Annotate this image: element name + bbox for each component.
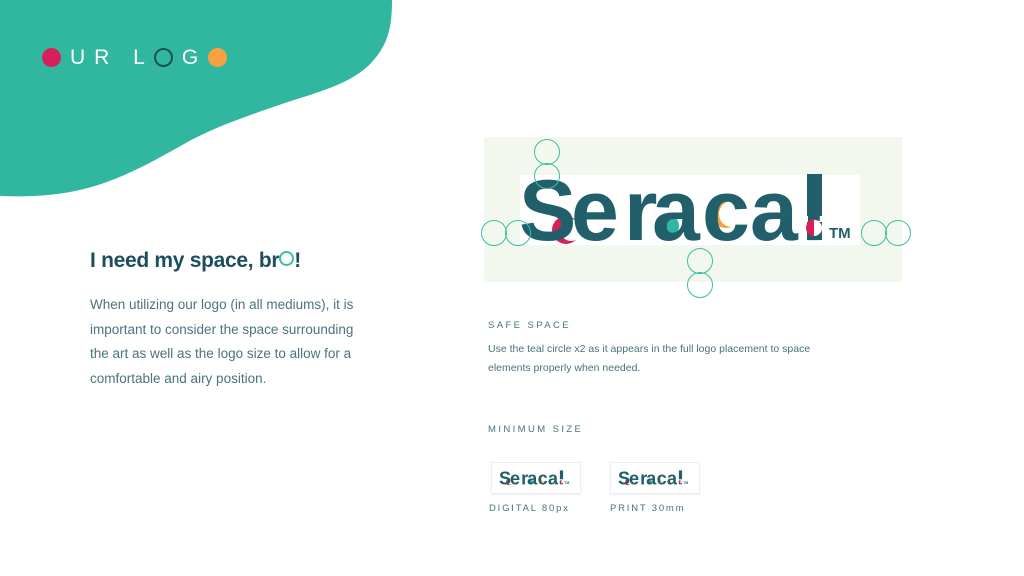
svg-text:a: a: [527, 468, 538, 488]
safe-space-marker-bottom: [687, 248, 713, 296]
header-blob-shape: [0, 0, 420, 210]
page-title-text-2: G: [182, 47, 207, 68]
svg-text:c: c: [657, 468, 667, 488]
svg-text:S: S: [618, 468, 630, 488]
svg-text:a: a: [652, 168, 701, 252]
minimum-size-swatch-digital: S e r a c a TM DIGITAL 80px: [491, 462, 581, 514]
svg-text:c: c: [702, 168, 748, 252]
circle-icon: [505, 220, 531, 246]
slide-canvas: UR L G I need my space, br ! When utiliz…: [0, 0, 1024, 576]
safe-space-marker-left: [481, 220, 529, 246]
circle-icon: [534, 139, 560, 165]
svg-text:c: c: [538, 468, 548, 488]
svg-text:TM: TM: [829, 225, 851, 242]
circle-icon: [861, 220, 887, 246]
dark-ring-icon: [154, 48, 173, 67]
svg-text:S: S: [499, 468, 511, 488]
swatch-caption: DIGITAL 80px: [489, 503, 581, 514]
svg-text:TM: TM: [565, 481, 570, 485]
safe-space-label: SAFE SPACE: [488, 320, 571, 331]
svg-text:a: a: [548, 468, 559, 488]
minimum-size-label: MINIMUM SIZE: [488, 424, 583, 435]
minimum-size-swatch-print: S e r a c a TM PRINT 30mm: [610, 462, 700, 514]
circle-icon: [481, 220, 507, 246]
swatch-logo-box: S e r a c a TM: [491, 462, 581, 494]
svg-text:e: e: [510, 468, 520, 488]
headline-suffix: !: [294, 248, 301, 273]
safe-space-body: Use the teal circle x2 as it appears in …: [488, 340, 828, 379]
teal-ring-icon: [279, 251, 294, 266]
circle-icon: [534, 163, 560, 189]
body-paragraph: When utilizing our logo (in all mediums)…: [90, 293, 360, 391]
svg-text:a: a: [646, 468, 657, 488]
svg-text:e: e: [629, 468, 639, 488]
headline: I need my space, br !: [90, 248, 360, 273]
circle-icon: [687, 272, 713, 298]
swatch-logo-box: S e r a c a TM: [610, 462, 700, 494]
svg-text:a: a: [667, 468, 678, 488]
pink-dot-icon: [42, 48, 61, 67]
page-title-text-1: UR L: [70, 47, 154, 68]
safe-space-marker-right: [861, 220, 909, 246]
svg-text:a: a: [750, 168, 799, 252]
svg-text:TM: TM: [684, 481, 689, 485]
safe-space-marker-top: [534, 139, 560, 187]
circle-icon: [687, 248, 713, 274]
page-title: UR L G: [42, 42, 227, 72]
orange-dot-icon: [208, 48, 227, 67]
logo-seracal-full: S e r a c a l TM: [519, 168, 869, 252]
left-text-column: I need my space, br ! When utilizing our…: [90, 248, 360, 391]
circle-icon: [885, 220, 911, 246]
headline-text: I need my space, br: [90, 248, 279, 273]
svg-text:e: e: [571, 168, 616, 252]
swatch-caption: PRINT 30mm: [610, 503, 700, 514]
